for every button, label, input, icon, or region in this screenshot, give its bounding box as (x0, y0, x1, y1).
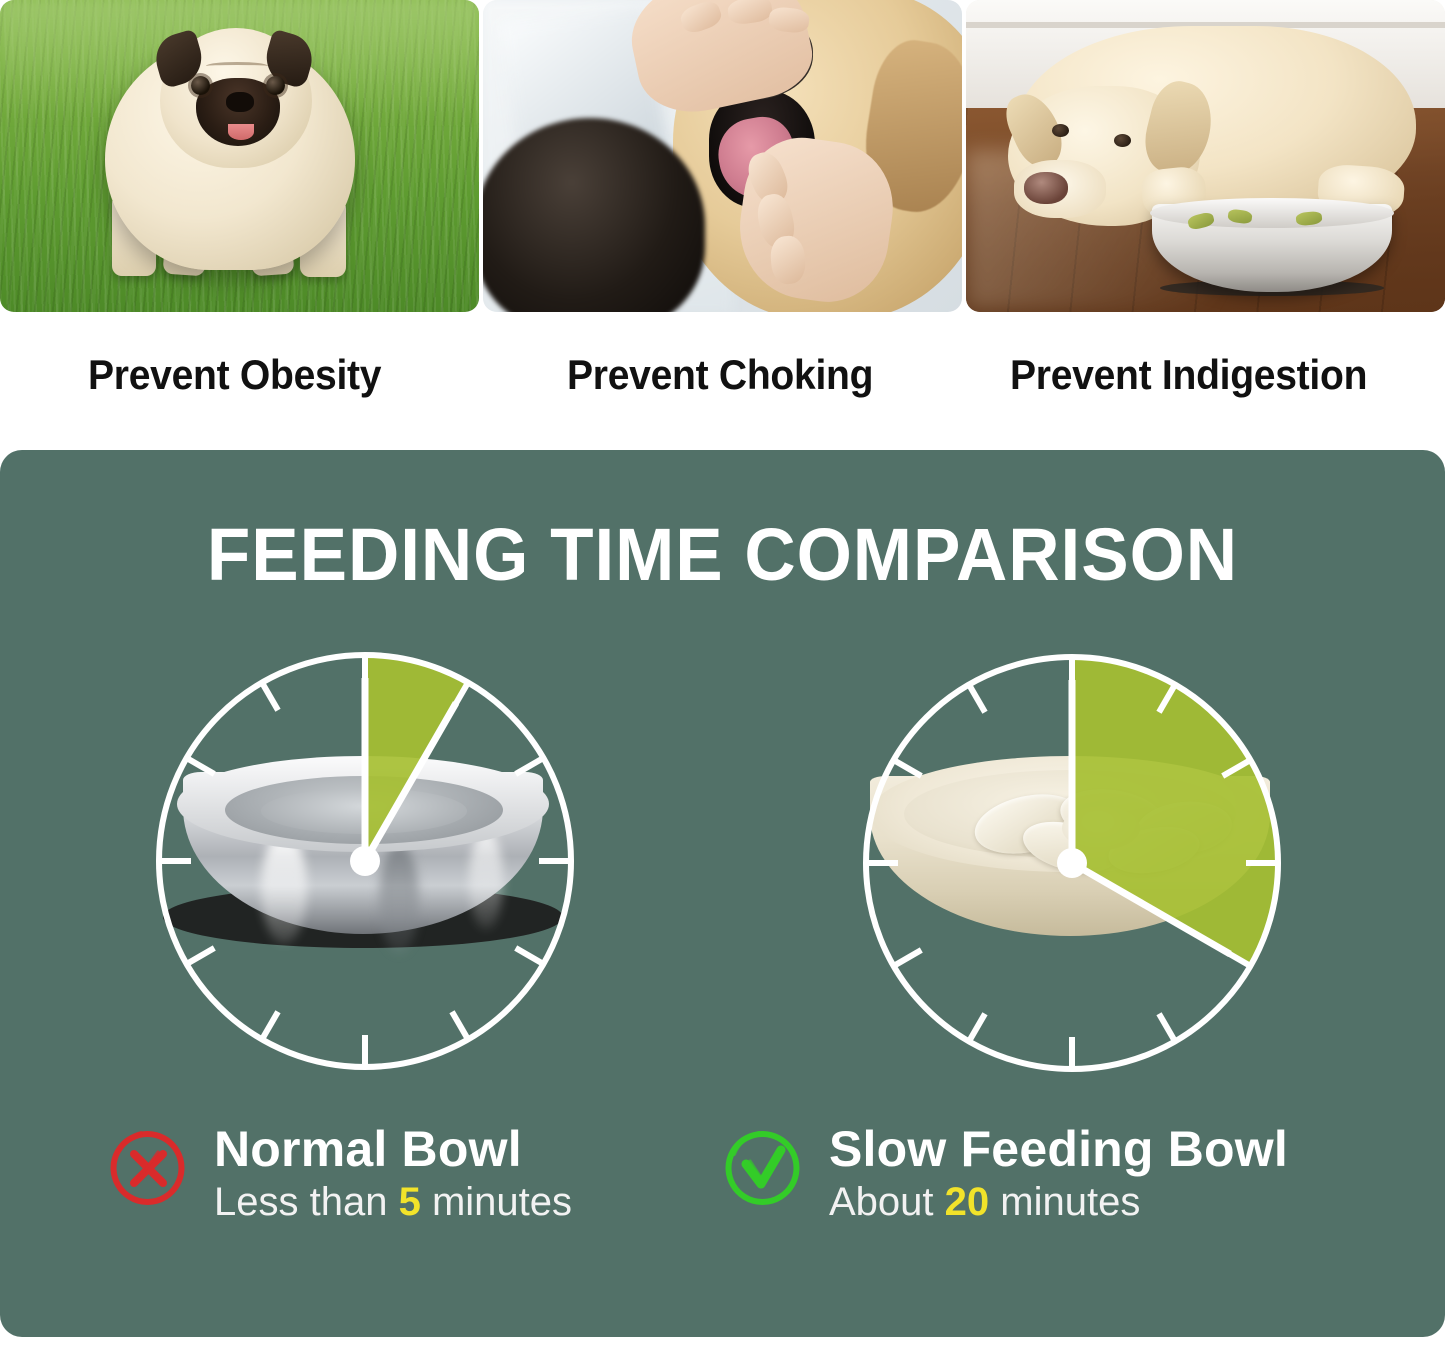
dial-center-hub (1057, 848, 1087, 878)
legend-sub-suffix: minutes (989, 1180, 1140, 1224)
feature-photo-strip (0, 0, 1445, 312)
photo-card-prevent-indigestion (966, 0, 1445, 312)
clock-face-slow-feeding-bowl (852, 638, 1292, 1078)
feeding-time-comparison-panel: FEEDING TIME COMPARISON (0, 450, 1445, 1337)
clock-dials (0, 638, 1445, 1108)
labrador-beside-bowl-photo (966, 0, 1445, 312)
caption-cell-obesity: Prevent Obesity (0, 336, 481, 414)
legend-sub-suffix: minutes (421, 1180, 572, 1224)
legend-normal-bowl: Normal Bowl Less than 5 minutes (108, 1122, 572, 1226)
pug-eye (266, 76, 285, 95)
comparison-legend: Normal Bowl Less than 5 minutes Slow Fee… (0, 1122, 1445, 1272)
legend-sub-prefix: Less than (214, 1180, 399, 1224)
steel-food-bowl-rim (1150, 198, 1394, 228)
pug-tongue (228, 124, 254, 140)
overweight-pug-photo (0, 0, 479, 312)
legend-sub-normal-bowl: Less than 5 minutes (214, 1178, 572, 1226)
feature-caption-row: Prevent Obesity Prevent Choking Prevent … (0, 336, 1445, 414)
labrador-eye (1052, 124, 1069, 137)
dial-center-hub (350, 846, 380, 876)
page-title: FEEDING TIME COMPARISON (29, 512, 1416, 597)
caption-cell-indigestion: Prevent Indigestion (962, 336, 1443, 414)
dial-normal-bowl (145, 638, 585, 1078)
legend-text-slow-feeding-bowl: Slow Feeding Bowl About 20 minutes (829, 1122, 1288, 1226)
legend-title-normal-bowl: Normal Bowl (214, 1122, 572, 1176)
labrador-eye (1114, 134, 1131, 147)
pug-eye (191, 76, 210, 95)
photo-card-prevent-choking (483, 0, 962, 312)
labrador-nose (1024, 172, 1068, 204)
photo-card-prevent-obesity (0, 0, 479, 312)
caption-prevent-obesity: Prevent Obesity (88, 351, 381, 399)
legend-slow-feeding-bowl: Slow Feeding Bowl About 20 minutes (723, 1122, 1288, 1226)
dial-slow-feeding-bowl (852, 638, 1292, 1078)
circled-x-icon (108, 1128, 188, 1208)
legend-sub-slow-feeding-bowl: About 20 minutes (829, 1178, 1288, 1226)
caption-prevent-indigestion: Prevent Indigestion (1010, 351, 1367, 399)
legend-sub-value: 5 (399, 1180, 421, 1224)
legend-text-normal-bowl: Normal Bowl Less than 5 minutes (214, 1122, 572, 1226)
pug-forehead-wrinkle (206, 62, 268, 70)
circled-check-icon (723, 1128, 803, 1208)
pug-nose (226, 92, 254, 112)
legend-sub-prefix: About (829, 1180, 945, 1224)
legend-title-slow-feeding-bowl: Slow Feeding Bowl (829, 1122, 1288, 1176)
legend-sub-value: 20 (945, 1180, 990, 1224)
caption-cell-choking: Prevent Choking (481, 336, 962, 414)
clock-face-normal-bowl (145, 638, 585, 1078)
caption-prevent-choking: Prevent Choking (567, 351, 873, 399)
dog-mouth-check-photo (483, 0, 962, 312)
